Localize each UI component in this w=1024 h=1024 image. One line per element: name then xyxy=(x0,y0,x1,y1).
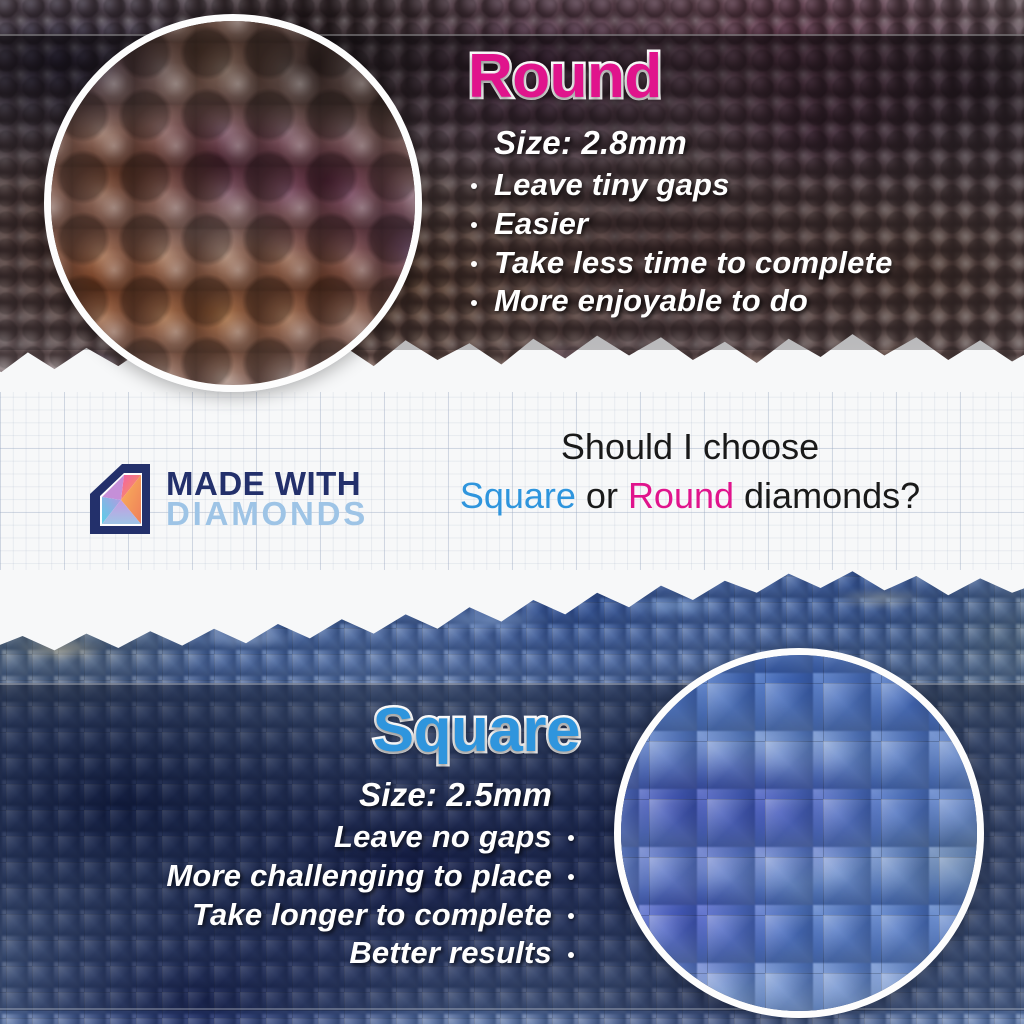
list-item: More challenging to place xyxy=(60,857,580,896)
infographic-canvas: Round Size: 2.8mm Leave tiny gaps Easier… xyxy=(0,0,1024,1024)
brand-line-diamonds: DIAMONDS xyxy=(166,499,368,529)
question-line-2: Square or Round diamonds? xyxy=(430,473,950,518)
square-size-label: Size: 2.5mm xyxy=(60,776,552,814)
question-square-word: Square xyxy=(460,475,576,516)
diamond-gem-icon xyxy=(86,462,152,536)
list-item: Take less time to complete xyxy=(468,244,1008,283)
round-bullet-text: More enjoyable to do xyxy=(494,283,808,318)
question-tail: diamonds? xyxy=(734,475,920,516)
brand-wordmark: MADE WITH DIAMONDS xyxy=(166,469,368,530)
bullet-dot-icon xyxy=(568,913,574,919)
question-round-word: Round xyxy=(628,475,734,516)
center-question: Should I choose Square or Round diamonds… xyxy=(430,424,950,518)
square-heading: Square xyxy=(373,700,580,762)
round-bullet-text: Easier xyxy=(494,206,588,241)
list-item: Take longer to complete xyxy=(60,896,580,935)
bullet-dot-icon xyxy=(471,261,477,267)
brand-logo: MADE WITH DIAMONDS xyxy=(86,462,368,536)
round-bullet-text: Leave tiny gaps xyxy=(494,167,730,202)
bullet-dot-icon xyxy=(568,952,574,958)
square-diamond-magnifier xyxy=(614,648,984,1018)
bullet-dot-icon xyxy=(471,183,477,189)
round-heading: Round xyxy=(468,46,1008,108)
round-size-label: Size: 2.8mm xyxy=(494,124,1008,162)
list-item: Leave no gaps xyxy=(60,818,580,857)
square-bullet-text: Better results xyxy=(349,935,552,970)
round-info-block: Round Size: 2.8mm Leave tiny gaps Easier… xyxy=(468,46,1008,321)
square-info-block: Square Size: 2.5mm Leave no gaps More ch… xyxy=(60,700,580,973)
list-item: Easier xyxy=(468,205,1008,244)
square-bullet-text: More challenging to place xyxy=(166,858,552,893)
bullet-dot-icon xyxy=(568,835,574,841)
list-item: Leave tiny gaps xyxy=(468,166,1008,205)
square-benefits-list: Leave no gaps More challenging to place … xyxy=(60,818,580,973)
list-item: Better results xyxy=(60,934,580,973)
bullet-dot-icon xyxy=(568,874,574,880)
bullet-dot-icon xyxy=(471,300,477,306)
round-diamond-magnifier xyxy=(44,14,422,392)
bullet-dot-icon xyxy=(471,222,477,228)
square-magnified-facets xyxy=(614,648,984,1018)
round-bullet-text: Take less time to complete xyxy=(494,245,893,280)
square-bullet-text: Leave no gaps xyxy=(334,819,552,854)
question-connector: or xyxy=(576,475,628,516)
round-benefits-list: Leave tiny gaps Easier Take less time to… xyxy=(468,166,1008,321)
square-bullet-text: Take longer to complete xyxy=(192,897,552,932)
question-line-1: Should I choose xyxy=(430,424,950,469)
round-magnified-facets xyxy=(44,14,422,392)
list-item: More enjoyable to do xyxy=(468,282,1008,321)
